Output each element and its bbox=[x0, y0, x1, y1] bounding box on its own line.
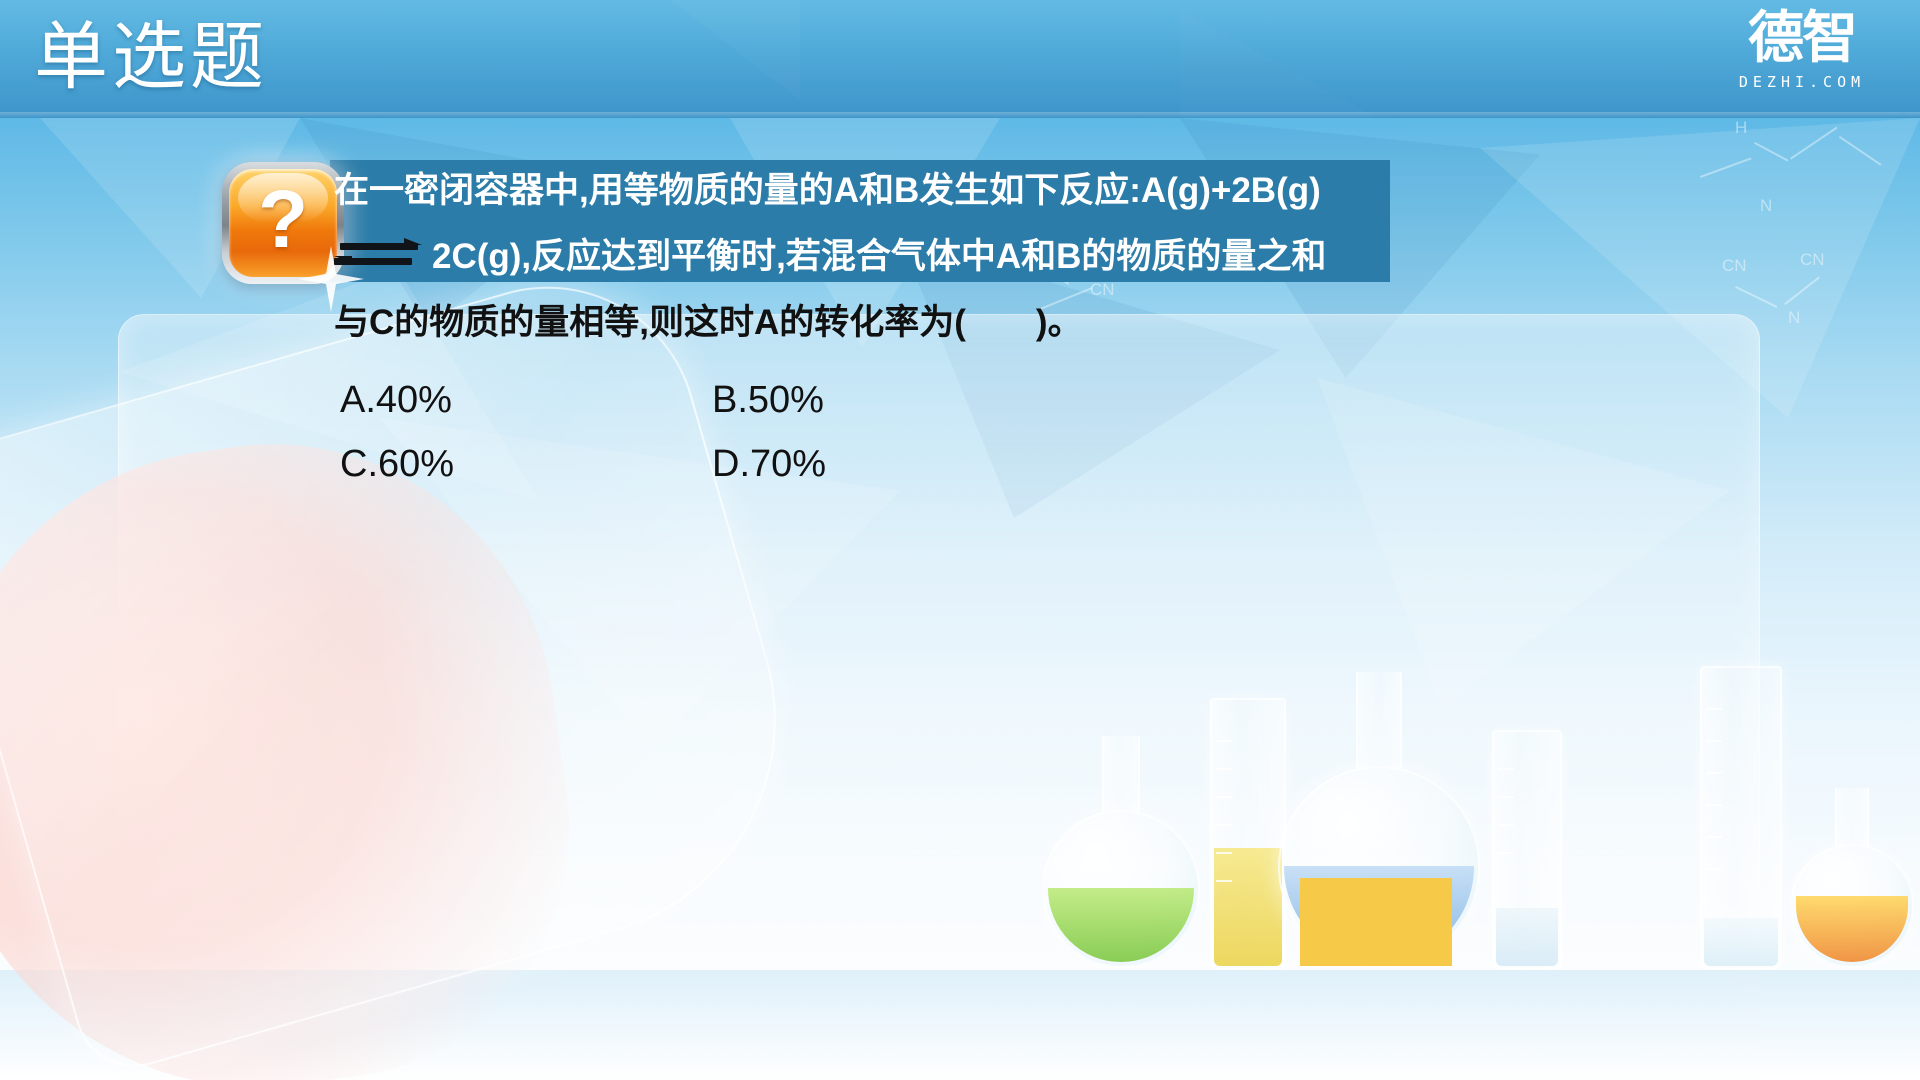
question-line-1: 在一密闭容器中,用等物质的量的A和B发生如下反应:A(g)+2B(g) bbox=[334, 158, 1754, 224]
question-line-3: 与C的物质的量相等,则这时A的转化率为( )。 bbox=[334, 290, 1754, 356]
option-c[interactable]: C.60% bbox=[340, 432, 712, 496]
molecule-label-n: N bbox=[1760, 196, 1772, 216]
logo-domain-text: DEZHI.COM bbox=[1739, 72, 1865, 92]
header-bar: 单选题 德智 DEZHI.COM bbox=[0, 0, 1920, 118]
options-row-1: A.40% B.50% bbox=[340, 368, 1260, 432]
round-flask-orange bbox=[1790, 844, 1914, 968]
question-mark-glyph: ? bbox=[229, 169, 337, 277]
page-title: 单选题 bbox=[34, 8, 268, 108]
molecule-label-cn: CN bbox=[1800, 250, 1825, 270]
option-d[interactable]: D.70% bbox=[712, 432, 1084, 496]
options-row-2: C.60% D.70% bbox=[340, 432, 1260, 496]
brand-logo: 德智 DEZHI.COM bbox=[1712, 8, 1892, 104]
flask-liquid bbox=[1796, 896, 1908, 962]
slide-stage: 单选题 德智 DEZHI.COM H N CN CN N CN bbox=[0, 0, 1920, 1080]
question-line-2-text: 2C(g),反应达到平衡时,若混合气体中A和B的物质的量之和 bbox=[432, 237, 1326, 276]
option-a[interactable]: A.40% bbox=[340, 368, 712, 432]
option-b[interactable]: B.50% bbox=[712, 368, 1084, 432]
question-text: 在一密闭容器中,用等物质的量的A和B发生如下反应:A(g)+2B(g) 2C(g… bbox=[334, 158, 1754, 356]
molecule-label-n: N bbox=[1788, 308, 1800, 328]
options-list: A.40% B.50% C.60% D.70% bbox=[340, 368, 1260, 496]
question-line-2: 2C(g),反应达到平衡时,若混合气体中A和B的物质的量之和 bbox=[334, 224, 1754, 290]
molecule-label-h: H bbox=[1735, 118, 1747, 138]
question-mark-icon: ? bbox=[222, 162, 344, 284]
logo-mark-text: 德智 bbox=[1748, 8, 1856, 70]
equilibrium-arrow-icon bbox=[334, 241, 422, 269]
flask-neck bbox=[1835, 788, 1869, 846]
